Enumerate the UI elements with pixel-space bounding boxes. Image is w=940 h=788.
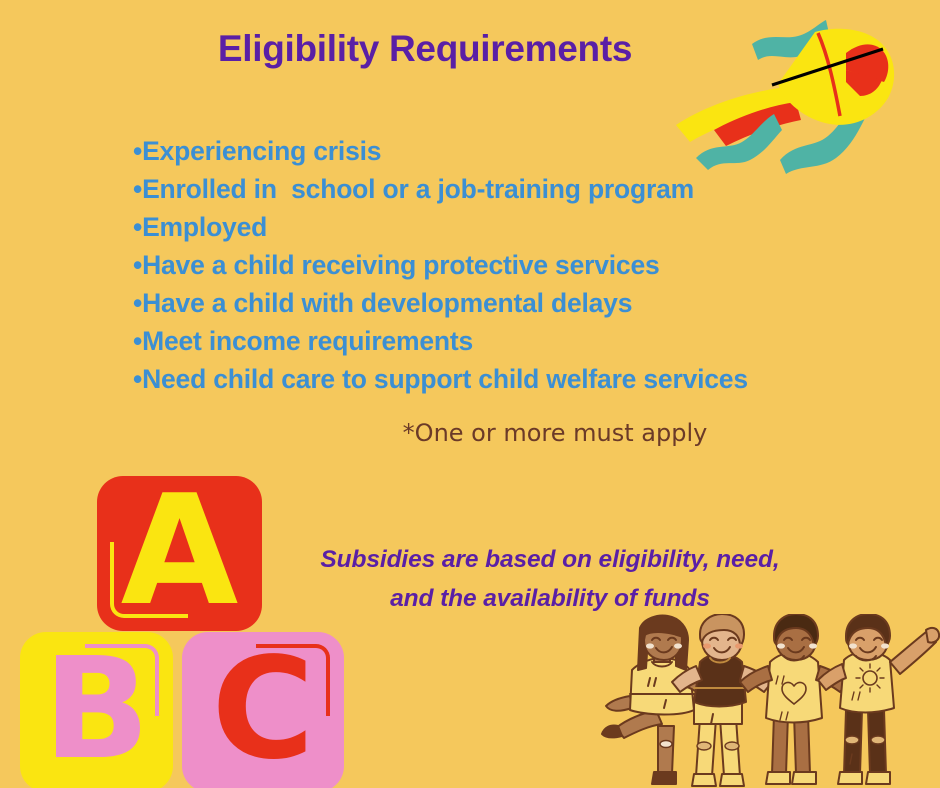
four-children-icon bbox=[596, 614, 940, 788]
block-c-letter: C bbox=[182, 632, 344, 788]
list-item: •Experiencing crisis bbox=[133, 132, 893, 170]
footnote-text: *One or more must apply bbox=[0, 419, 940, 447]
page-title: Eligibility Requirements bbox=[0, 28, 850, 70]
subsidy-statement-line1: Subsidies are based on eligibility, need… bbox=[240, 540, 860, 579]
poster-canvas: Eligibility Requirements •Experiencing c… bbox=[0, 0, 940, 788]
eligibility-bullet-list: •Experiencing crisis •Enrolled in school… bbox=[133, 132, 893, 398]
subsidy-statement-line2: and the availability of funds bbox=[240, 579, 860, 618]
alphabet-block-b: B bbox=[20, 632, 173, 788]
child-4 bbox=[818, 614, 939, 784]
subsidy-statement: Subsidies are based on eligibility, need… bbox=[240, 540, 860, 618]
list-item: •Have a child receiving protective servi… bbox=[133, 246, 893, 284]
list-item: •Enrolled in school or a job-training pr… bbox=[133, 170, 893, 208]
alphabet-block-a: A bbox=[97, 476, 262, 631]
children-svg bbox=[596, 614, 940, 788]
list-item: •Have a child with developmental delays bbox=[133, 284, 893, 322]
list-item: •Need child care to support child welfar… bbox=[133, 360, 893, 398]
block-a-letter: A bbox=[97, 476, 262, 631]
block-b-letter: B bbox=[20, 632, 173, 788]
list-item: •Meet income requirements bbox=[133, 322, 893, 360]
alphabet-block-c: C bbox=[182, 632, 344, 788]
list-item: •Employed bbox=[133, 208, 893, 246]
child-3 bbox=[740, 614, 848, 784]
